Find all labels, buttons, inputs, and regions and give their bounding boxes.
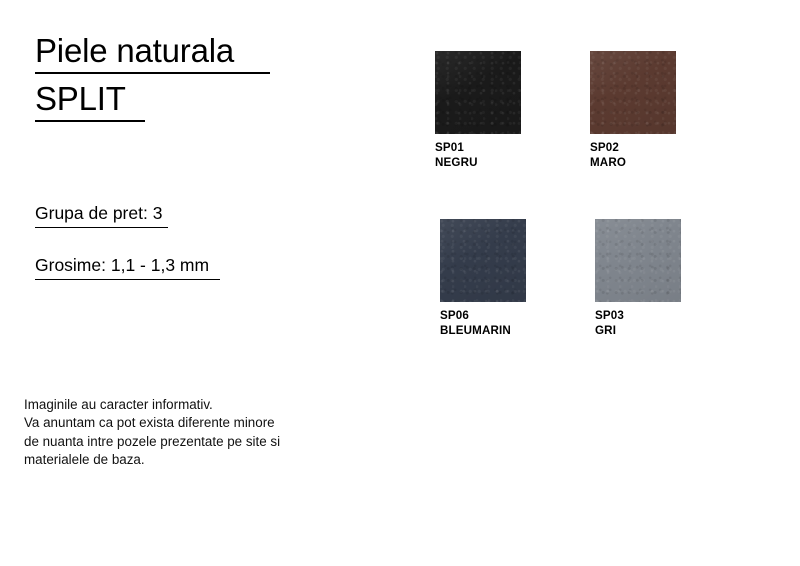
color-chip-sp01[interactable] <box>435 51 521 134</box>
swatch-item-sp06[interactable]: SP06 BLEUMARIN <box>435 219 595 338</box>
thickness-spec: Grosime: 1,1 - 1,3 mm <box>35 255 220 280</box>
color-chip-sp03[interactable] <box>595 219 681 302</box>
swatch-label-sp03: SP03 GRI <box>595 309 750 338</box>
swatch-code: SP01 <box>435 141 590 156</box>
title-material-name: SPLIT <box>35 81 145 122</box>
swatch-row: SP01 NEGRU SP02 MARO <box>435 51 765 170</box>
swatch-row: SP06 BLEUMARIN SP03 GRI <box>435 219 765 338</box>
price-group-spec: Grupa de pret: 3 <box>35 203 168 228</box>
color-chip-sp06[interactable] <box>440 219 526 302</box>
swatch-name: GRI <box>595 324 750 339</box>
color-swatch-grid: SP01 NEGRU SP02 MARO <box>435 51 765 338</box>
swatch-name: NEGRU <box>435 156 590 171</box>
swatch-item-sp03[interactable]: SP03 GRI <box>595 219 750 338</box>
color-chip-sp02[interactable] <box>590 51 676 134</box>
swatch-item-sp02[interactable]: SP02 MARO <box>590 51 745 170</box>
swatch-label-sp06: SP06 BLEUMARIN <box>440 309 595 338</box>
chip-sheen <box>595 219 681 302</box>
swatch-code: SP03 <box>595 309 750 324</box>
swatch-code: SP02 <box>590 141 745 156</box>
chip-sheen <box>590 51 676 134</box>
chip-sheen <box>440 219 526 302</box>
disclaimer-text: Imaginile au caracter informativ. Va anu… <box>24 396 280 470</box>
swatch-item-sp01[interactable]: SP01 NEGRU <box>435 51 590 170</box>
chip-sheen <box>435 51 521 134</box>
swatch-code: SP06 <box>440 309 595 324</box>
title-material-type: Piele naturala <box>35 33 270 74</box>
swatch-name: MARO <box>590 156 745 171</box>
swatch-label-sp02: SP02 MARO <box>590 141 745 170</box>
material-spec-sheet: Piele naturala SPLIT Grupa de pret: 3 Gr… <box>0 0 800 566</box>
swatch-name: BLEUMARIN <box>440 324 595 339</box>
page-title: Piele naturala SPLIT <box>35 33 270 122</box>
swatch-label-sp01: SP01 NEGRU <box>435 141 590 170</box>
